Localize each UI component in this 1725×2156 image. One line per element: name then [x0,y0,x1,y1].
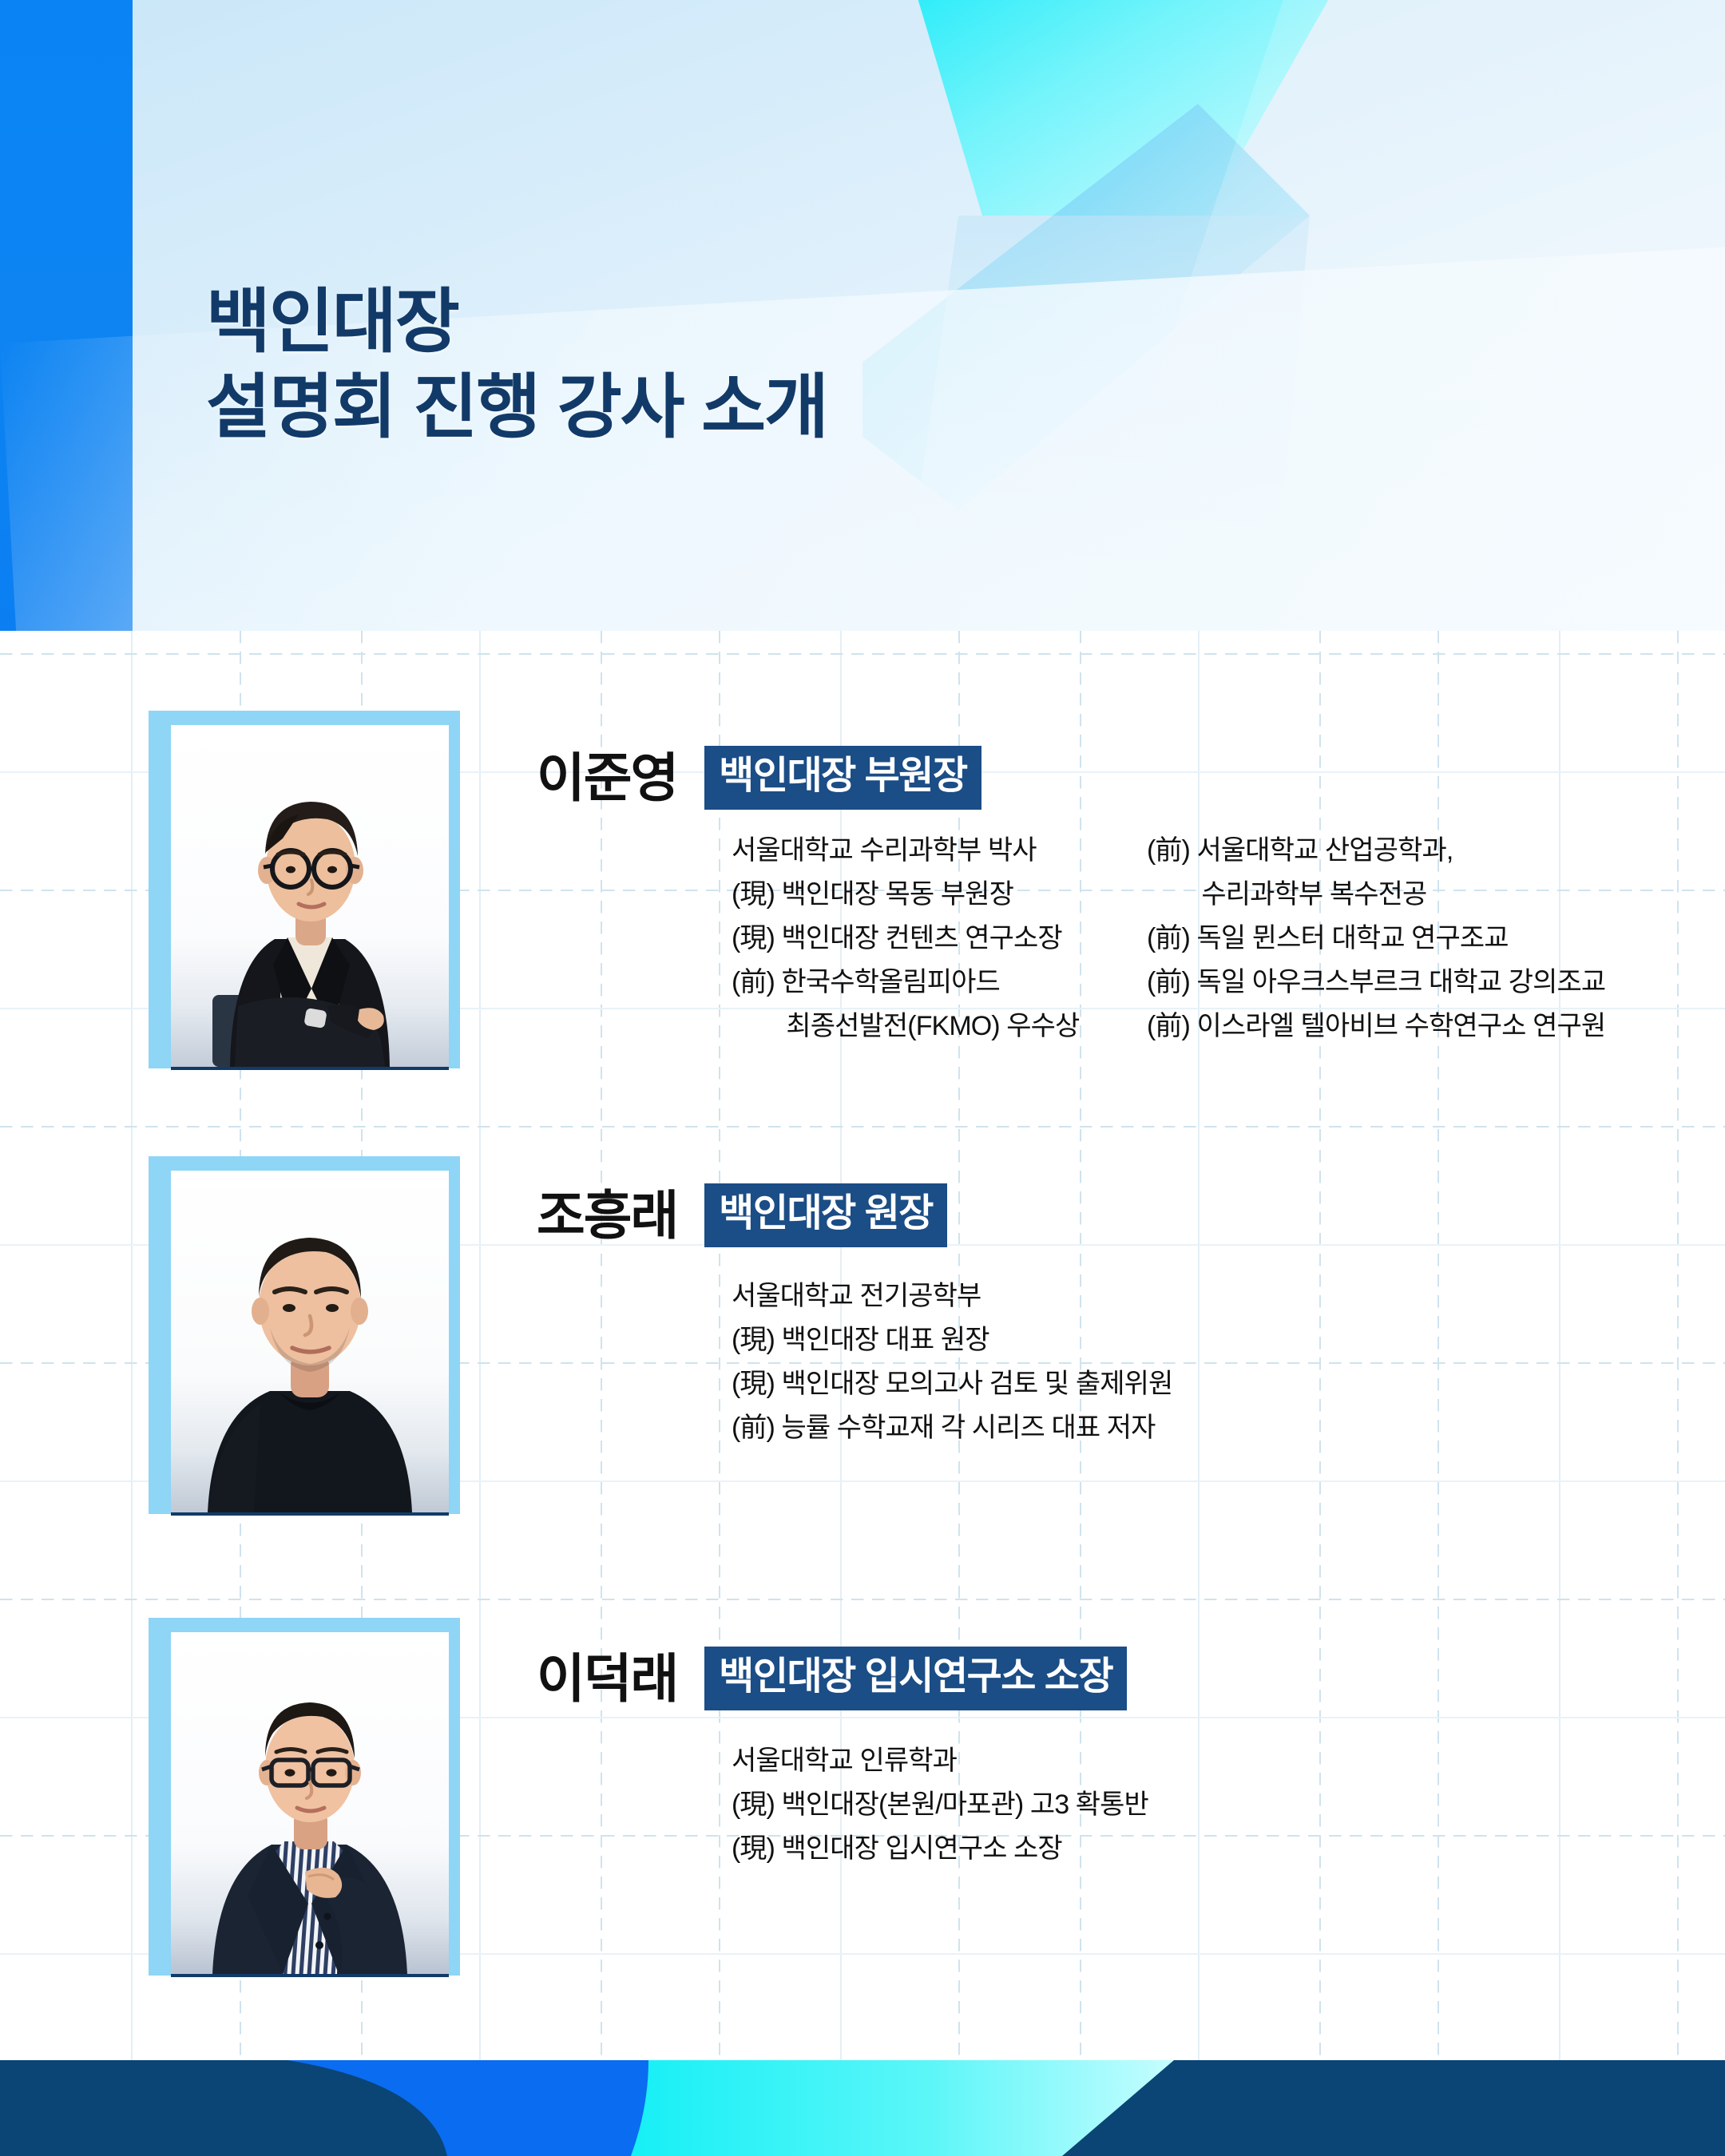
instructors-section: 이준영 백인대장 부원장 서울대학교 수리과학부 박사 (現) 백인대장 목동 … [0,631,1725,2060]
credential-item: (前) 이스라엘 텔아비브 수학연구소 연구원 [1147,1005,1658,1048]
credential-item: 최종선발전(FKMO) 우수상 [732,1005,1147,1048]
instructor-photo [171,725,449,1067]
credential-item: 서울대학교 수리과학부 박사 [732,829,1147,873]
credential-item: 수리과학부 복수전공 [1147,873,1658,917]
instructor-photo [171,1632,449,1974]
credential-item: 서울대학교 전기공학부 [732,1274,1610,1318]
poster-footer [0,2060,1725,2156]
instructor-role-badge: 백인대장 부원장 [704,746,981,810]
instructor-name: 이덕래 [537,1652,677,1705]
instructor-heading: 이준영 백인대장 부원장 [537,739,981,816]
credential-item: (前) 독일 아우크스부르크 대학교 강의조교 [1147,961,1658,1005]
credential-item: (現) 백인대장 입시연구소 소장 [732,1827,1610,1871]
poster-header: 백인대장 설명회 진행 강사 소개 [0,0,1725,631]
credential-item: (現) 백인대장 컨텐츠 연구소장 [732,917,1147,961]
instructor-credentials: 서울대학교 인류학과 (現) 백인대장(본원/마포관) 고3 확통반 (現) 백… [732,1739,1610,1871]
credentials-column-left: 서울대학교 인류학과 (現) 백인대장(본원/마포관) 고3 확통반 (現) 백… [732,1739,1610,1871]
credential-item: (現) 백인대장 목동 부원장 [732,873,1147,917]
instructor-name: 이준영 [537,751,677,804]
instructor-photo-frame [149,1618,460,1976]
instructor-credentials: 서울대학교 수리과학부 박사 (現) 백인대장 목동 부원장 (現) 백인대장 … [732,829,1658,1048]
instructor-photo-frame [149,1156,460,1514]
credential-item: (前) 서울대학교 산업공학과, [1147,829,1658,873]
instructor-role-badge: 백인대장 원장 [704,1183,947,1247]
instructor-card: 이덕래 백인대장 입시연구소 소장 서울대학교 인류학과 (現) 백인대장(본원… [0,1548,1725,2043]
credentials-column-right: (前) 서울대학교 산업공학과, 수리과학부 복수전공 (前) 독일 뮌스터 대… [1147,829,1658,1048]
credential-item: (前) 능률 수학교재 각 시리즈 대표 저자 [732,1406,1610,1450]
credentials-column-left: 서울대학교 수리과학부 박사 (現) 백인대장 목동 부원장 (現) 백인대장 … [732,829,1147,1048]
page-title: 백인대장 설명회 진행 강사 소개 [206,279,827,450]
instructor-heading: 조흥래 백인대장 원장 [537,1177,947,1254]
credentials-column-left: 서울대학교 전기공학부 (現) 백인대장 대표 원장 (現) 백인대장 모의고사… [732,1274,1610,1450]
credential-item: 서울대학교 인류학과 [732,1739,1610,1783]
instructor-credentials: 서울대학교 전기공학부 (現) 백인대장 대표 원장 (現) 백인대장 모의고사… [732,1274,1610,1450]
credential-item: (現) 백인대장 대표 원장 [732,1318,1610,1362]
instructor-photo-frame [149,711,460,1068]
credential-item: (前) 독일 뮌스터 대학교 연구조교 [1147,917,1658,961]
credential-item: (現) 백인대장 모의고사 검토 및 출제위원 [732,1362,1610,1406]
credential-item: (現) 백인대장(본원/마포관) 고3 확통반 [732,1783,1610,1827]
instructor-heading: 이덕래 백인대장 입시연구소 소장 [537,1640,1127,1717]
instructor-card: 조흥래 백인대장 원장 서울대학교 전기공학부 (現) 백인대장 대표 원장 (… [0,1086,1725,1565]
instructor-photo [171,1171,449,1512]
instructor-role-badge: 백인대장 입시연구소 소장 [704,1647,1127,1710]
credential-item: (前) 한국수학올림피아드 [732,961,1147,1005]
instructor-card: 이준영 백인대장 부원장 서울대학교 수리과학부 박사 (現) 백인대장 목동 … [0,631,1725,1110]
instructor-name: 조흥래 [537,1189,677,1242]
